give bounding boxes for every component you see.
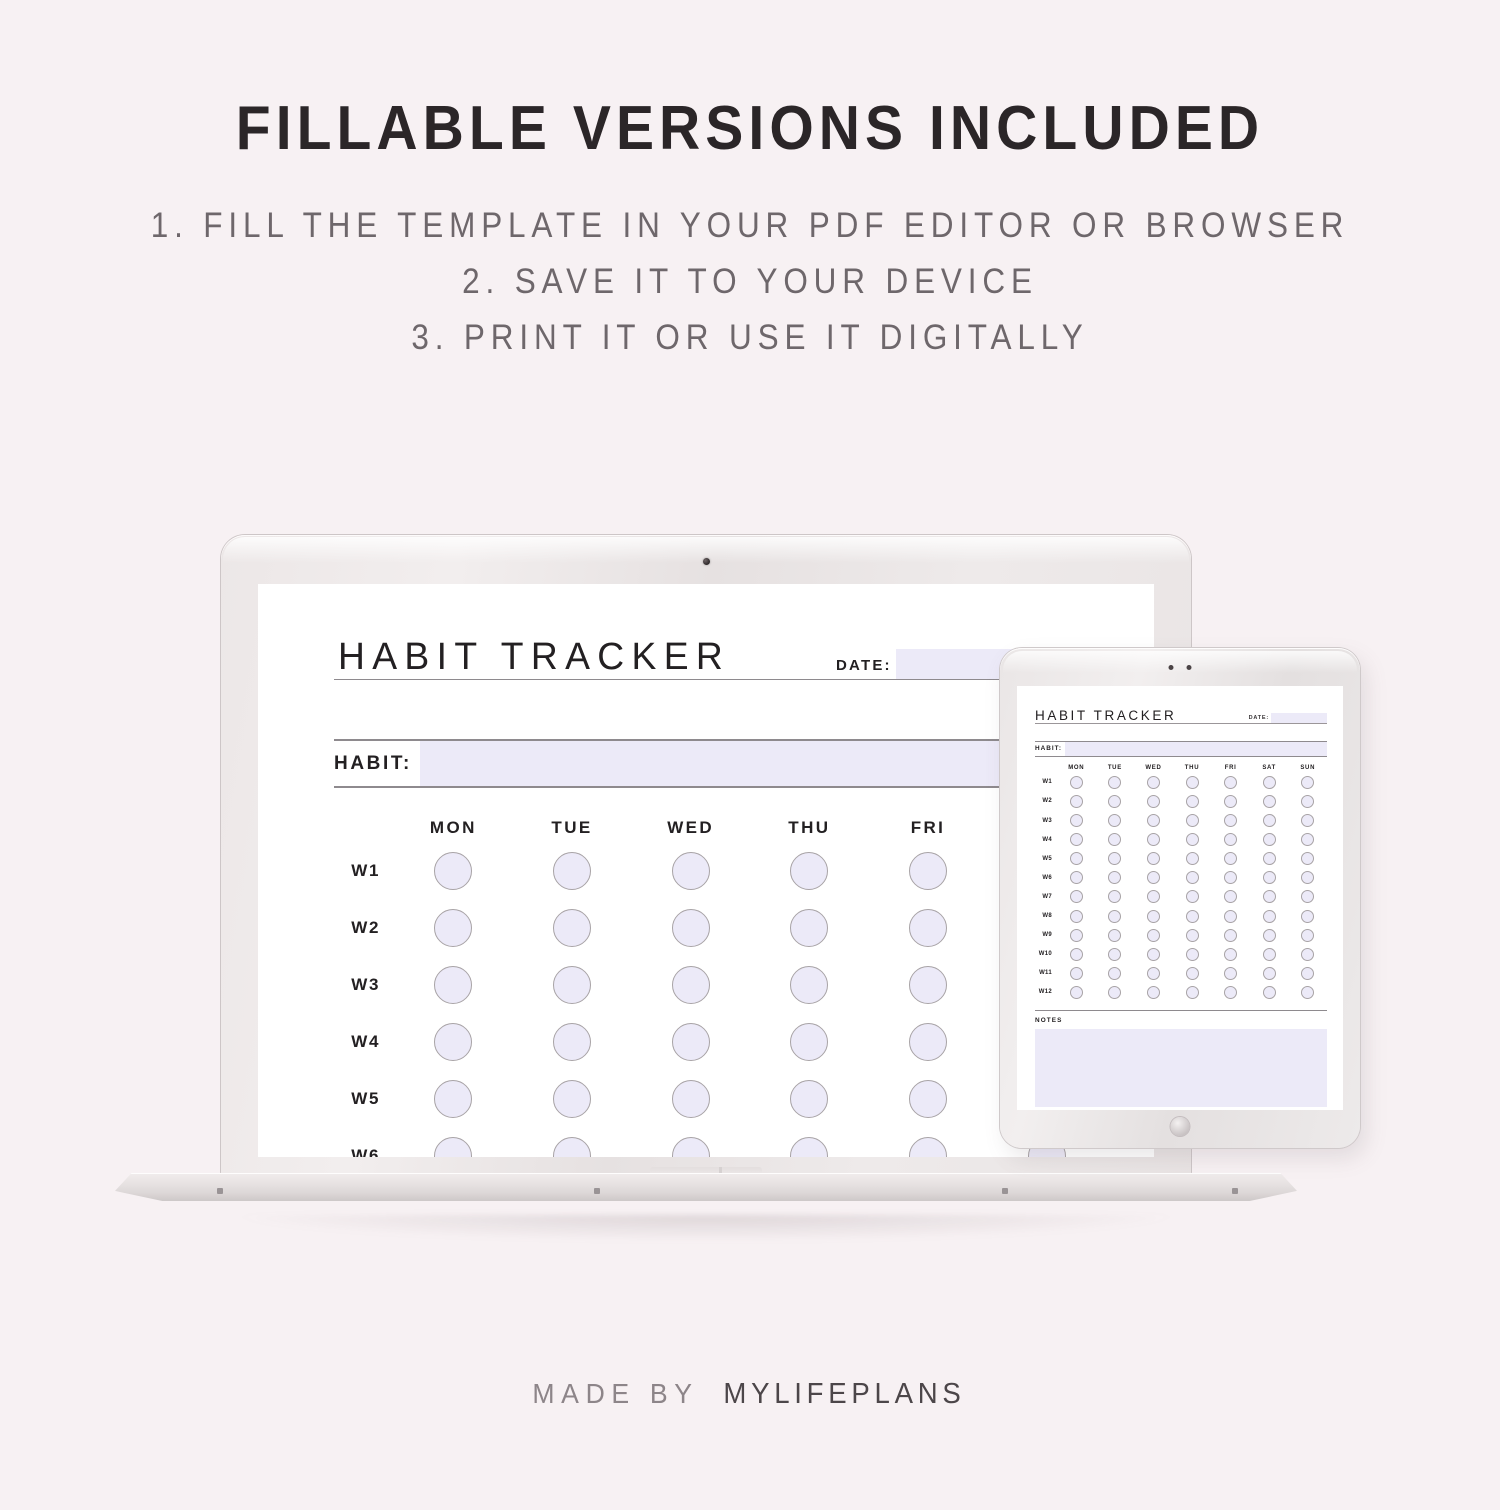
tablet-habit-checkbox-w7-thu[interactable]: [1186, 890, 1199, 903]
tablet-habit-checkbox-w6-wed[interactable]: [1147, 871, 1160, 884]
laptop-day-header-thu: THU: [750, 818, 869, 838]
tablet-cell-wrapper: [1211, 910, 1250, 923]
laptop-cell-wrapper: [631, 1023, 750, 1061]
tablet-habit-checkbox-w6-sun[interactable]: [1301, 871, 1314, 884]
tablet-cell-wrapper: [1211, 776, 1250, 789]
tablet-habit-checkbox-w5-wed[interactable]: [1147, 852, 1160, 865]
tablet-cell-wrapper: [1096, 795, 1135, 808]
tablet-cell-wrapper: [1250, 776, 1289, 789]
tablet-habit-checkbox-w10-fri[interactable]: [1224, 948, 1237, 961]
tablet-habit-checkbox-w5-thu[interactable]: [1186, 852, 1199, 865]
tablet-day-header-mon: MON: [1057, 765, 1096, 771]
tablet-cell-wrapper: [1288, 795, 1327, 808]
laptop-habit-checkbox-w2-tue[interactable]: [553, 909, 591, 947]
tablet-habit-checkbox-w1-mon[interactable]: [1070, 776, 1083, 789]
tablet-cell-wrapper: [1288, 986, 1327, 999]
tablet-habit-checkbox-w1-sat[interactable]: [1263, 776, 1276, 789]
laptop-day-header-wed: WED: [631, 818, 750, 838]
tablet-cell-wrapper: [1057, 776, 1096, 789]
laptop-week-label-w4: W4: [334, 1032, 394, 1052]
laptop-week-rows: W1W2W3W4W5W6: [334, 842, 1106, 1157]
tablet-habit-checkbox-w11-tue[interactable]: [1108, 967, 1121, 980]
tablet-week-row: W9: [1035, 926, 1327, 945]
tablet-habit-checkbox-w12-fri[interactable]: [1224, 986, 1237, 999]
tablet-cell-wrapper: [1250, 833, 1289, 846]
tablet-cell-wrapper: [1096, 910, 1135, 923]
tablet-habit-checkbox-w6-thu[interactable]: [1186, 871, 1199, 884]
tablet-cell-wrapper: [1211, 890, 1250, 903]
tablet-habit-checkbox-w10-thu[interactable]: [1186, 948, 1199, 961]
tablet-cell-wrapper: [1288, 852, 1327, 865]
tablet-habit-checkbox-w11-sun[interactable]: [1301, 967, 1314, 980]
tablet-habit-checkbox-w11-mon[interactable]: [1070, 967, 1083, 980]
tablet-cell-wrapper: [1173, 833, 1212, 846]
tablet-cell-wrapper: [1173, 776, 1212, 789]
tablet-cell-wrapper: [1096, 986, 1135, 999]
tablet-notes-rule: [1035, 1010, 1327, 1011]
tablet-habit-label: HABIT:: [1035, 742, 1065, 756]
tablet-habit-checkbox-w5-mon[interactable]: [1070, 852, 1083, 865]
laptop-habit-checkbox-w6-thu[interactable]: [790, 1137, 828, 1158]
tablet-habit-checkbox-w3-sat[interactable]: [1263, 814, 1276, 827]
tablet-week-rows: W1W2W3W4W5W6W7W8W9W10W11W12: [1035, 773, 1327, 1002]
tablet-cell-wrapper: [1134, 967, 1173, 980]
tablet-habit-checkbox-w12-tue[interactable]: [1108, 986, 1121, 999]
tablet-habit-grid: MONTUEWEDTHUFRISATSUN W1W2W3W4W5W6W7W8W9…: [1035, 757, 1327, 1002]
tablet-habit-checkbox-w5-tue[interactable]: [1108, 852, 1121, 865]
tablet-day-header-tue: TUE: [1096, 765, 1135, 771]
laptop-cell-wrapper: [513, 909, 632, 947]
tablet-habit-checkbox-w8-sun[interactable]: [1301, 910, 1314, 923]
tablet-week-row: W7: [1035, 887, 1327, 906]
tablet-cell-wrapper: [1211, 833, 1250, 846]
laptop-week-label-w3: W3: [334, 975, 394, 995]
tablet-habit-checkbox-w12-thu[interactable]: [1186, 986, 1199, 999]
tablet-habit-checkbox-w8-tue[interactable]: [1108, 910, 1121, 923]
tablet-cell-wrapper: [1288, 833, 1327, 846]
tablet-habit-checkbox-w8-thu[interactable]: [1186, 910, 1199, 923]
laptop-cell-wrapper: [869, 1023, 988, 1061]
laptop-date-label: DATE:: [836, 657, 892, 679]
tablet-day-header-wed: WED: [1134, 765, 1173, 771]
tablet-week-row: W10: [1035, 945, 1327, 964]
tablet-habit-checkbox-w12-wed[interactable]: [1147, 986, 1160, 999]
footer-made-by-label: MADE BY: [532, 1378, 698, 1410]
laptop-habit-label: HABIT:: [334, 741, 420, 786]
laptop-habit-grid: MONTUEWEDTHUFRISAT W1W2W3W4W5W6: [334, 788, 1106, 1157]
tablet-cell-wrapper: [1288, 910, 1327, 923]
tablet-habit-checkbox-w3-thu[interactable]: [1186, 814, 1199, 827]
laptop-deck: [115, 1173, 1297, 1201]
tablet-cell-wrapper: [1211, 967, 1250, 980]
laptop-habit-checkbox-w1-fri[interactable]: [909, 852, 947, 890]
tablet-habit-checkbox-w4-fri[interactable]: [1224, 833, 1237, 846]
tablet-week-label-w5: W5: [1035, 856, 1057, 862]
tablet-habit-checkbox-w11-thu[interactable]: [1186, 967, 1199, 980]
tablet-cell-wrapper: [1211, 929, 1250, 942]
tablet-grid-corner-spacer: [1035, 765, 1057, 771]
laptop-day-header-row: MONTUEWEDTHUFRISAT: [334, 788, 1106, 842]
tablet-habit-checkbox-w10-wed[interactable]: [1147, 948, 1160, 961]
laptop-drop-shadow: [241, 1215, 1171, 1241]
laptop-cell-wrapper: [631, 1137, 750, 1158]
tablet-cell-wrapper: [1288, 967, 1327, 980]
laptop-habit-checkbox-w4-tue[interactable]: [553, 1023, 591, 1061]
laptop-cell-wrapper: [869, 909, 988, 947]
tablet-cell-wrapper: [1134, 852, 1173, 865]
tablet-cell-wrapper: [1250, 929, 1289, 942]
tablet-habit-checkbox-w3-sun[interactable]: [1301, 814, 1314, 827]
tablet-habit-checkbox-w11-wed[interactable]: [1147, 967, 1160, 980]
home-button-icon[interactable]: [1171, 1117, 1190, 1136]
laptop-cell-wrapper: [513, 966, 632, 1004]
laptop-day-header-mon: MON: [394, 818, 513, 838]
laptop-habit-checkbox-w6-wed[interactable]: [672, 1137, 710, 1158]
laptop-week-label-w2: W2: [334, 918, 394, 938]
camera-dot-icon: [1169, 665, 1192, 670]
tablet-habit-checkbox-w7-wed[interactable]: [1147, 890, 1160, 903]
tablet-week-label-w12: W12: [1035, 989, 1057, 995]
tablet-week-row: W12: [1035, 983, 1327, 1002]
tablet-habit-checkbox-w3-wed[interactable]: [1147, 814, 1160, 827]
tablet-cell-wrapper: [1057, 910, 1096, 923]
tablet-week-label-w7: W7: [1035, 894, 1057, 900]
tablet-habit-checkbox-w10-mon[interactable]: [1070, 948, 1083, 961]
tablet-date-group: DATE:: [1249, 713, 1327, 723]
tablet-week-row: W11: [1035, 964, 1327, 983]
laptop-habit-row: HABIT:: [334, 741, 1106, 786]
tablet-sheet-header: HABIT TRACKER DATE:: [1017, 708, 1343, 723]
tablet-cell-wrapper: [1134, 929, 1173, 942]
tablet-habit-checkbox-w9-wed[interactable]: [1147, 929, 1160, 942]
tablet-notes-label: NOTES: [1035, 1017, 1327, 1024]
tablet-cell-wrapper: [1250, 890, 1289, 903]
tablet-habit-checkbox-w9-tue[interactable]: [1108, 929, 1121, 942]
tablet-habit-checkbox-w4-wed[interactable]: [1147, 833, 1160, 846]
tablet-cell-wrapper: [1096, 833, 1135, 846]
laptop-cell-wrapper: [631, 1080, 750, 1118]
laptop-day-header-tue: TUE: [513, 818, 632, 838]
tablet-week-label-w4: W4: [1035, 837, 1057, 843]
tablet-habit-checkbox-w2-wed[interactable]: [1147, 795, 1160, 808]
tablet-cell-wrapper: [1134, 833, 1173, 846]
tablet-habit-checkbox-w9-fri[interactable]: [1224, 929, 1237, 942]
laptop-habit-checkbox-w5-wed[interactable]: [672, 1080, 710, 1118]
device-mockup-stage: HABIT TRACKER DATE: HABIT:: [0, 0, 1500, 1510]
tablet-habit-checkbox-w2-tue[interactable]: [1108, 795, 1121, 808]
tablet-cell-wrapper: [1057, 852, 1096, 865]
tablet-week-row: W4: [1035, 830, 1327, 849]
tablet-habit-checkbox-w9-thu[interactable]: [1186, 929, 1199, 942]
laptop-habit-checkbox-w1-tue[interactable]: [553, 852, 591, 890]
tablet-cell-wrapper: [1057, 929, 1096, 942]
tablet-cell-wrapper: [1134, 795, 1173, 808]
tablet-cell-wrapper: [1288, 890, 1327, 903]
laptop-date-underline: [334, 679, 1106, 680]
laptop-sheet-title: HABIT TRACKER: [338, 636, 730, 679]
tablet-habit-checkbox-w2-fri[interactable]: [1224, 795, 1237, 808]
tablet-cell-wrapper: [1134, 776, 1173, 789]
laptop-week-row: W6: [334, 1127, 1106, 1157]
tablet-habit-checkbox-w3-mon[interactable]: [1070, 814, 1083, 827]
tablet-cell-wrapper: [1134, 948, 1173, 961]
tablet-day-header-fri: FRI: [1211, 765, 1250, 771]
tablet-sheet-title: HABIT TRACKER: [1035, 708, 1176, 723]
tablet-cell-wrapper: [1096, 814, 1135, 827]
tablet-cell-wrapper: [1057, 890, 1096, 903]
tablet-habit-checkbox-w5-fri[interactable]: [1224, 852, 1237, 865]
tablet-habit-checkbox-w8-fri[interactable]: [1224, 910, 1237, 923]
laptop-cell-wrapper: [631, 909, 750, 947]
camera-dot-icon-right: [1187, 665, 1192, 670]
tablet-cell-wrapper: [1096, 852, 1135, 865]
tablet-habit-checkbox-w2-mon[interactable]: [1070, 795, 1083, 808]
tablet-cell-wrapper: [1211, 795, 1250, 808]
tablet-cell-wrapper: [1211, 871, 1250, 884]
tablet-day-header-sat: SAT: [1250, 765, 1289, 771]
tablet-habit-checkbox-w4-mon[interactable]: [1070, 833, 1083, 846]
laptop-habit-checkbox-w6-tue[interactable]: [553, 1137, 591, 1158]
tablet-cell-wrapper: [1288, 871, 1327, 884]
tablet-cell-wrapper: [1288, 776, 1327, 789]
laptop-habit-checkbox-w2-fri[interactable]: [909, 909, 947, 947]
camera-dot-icon: [703, 558, 710, 565]
laptop-cell-wrapper: [869, 966, 988, 1004]
laptop-habit-checkbox-w2-thu[interactable]: [790, 909, 828, 947]
tablet-habit-checkbox-w9-mon[interactable]: [1070, 929, 1083, 942]
tablet-habit-row: HABIT:: [1035, 742, 1327, 756]
tablet-week-row: W5: [1035, 849, 1327, 868]
laptop-habit-checkbox-w3-mon[interactable]: [434, 966, 472, 1004]
laptop-habit-checkbox-w1-mon[interactable]: [434, 852, 472, 890]
laptop-habit-checkbox-w2-mon[interactable]: [434, 909, 472, 947]
laptop-habit-checkbox-w2-wed[interactable]: [672, 909, 710, 947]
tablet-cell-wrapper: [1057, 986, 1096, 999]
laptop-habit-checkbox-w4-wed[interactable]: [672, 1023, 710, 1061]
laptop-foot: [1232, 1188, 1238, 1194]
laptop-cell-wrapper: [394, 852, 513, 890]
tablet-habit-checkbox-w11-sat[interactable]: [1263, 967, 1276, 980]
laptop-week-row: W4: [334, 1013, 1106, 1070]
tablet-week-row: W1: [1035, 773, 1327, 792]
tablet-week-row: W2: [1035, 792, 1327, 811]
tablet-cell-wrapper: [1096, 929, 1135, 942]
laptop-habit-checkbox-w6-fri[interactable]: [909, 1137, 947, 1158]
laptop-cell-wrapper: [394, 1023, 513, 1061]
laptop-habit-checkbox-w5-mon[interactable]: [434, 1080, 472, 1118]
tablet-cell-wrapper: [1134, 871, 1173, 884]
tablet-cell-wrapper: [1288, 948, 1327, 961]
laptop-week-label-w1: W1: [334, 861, 394, 881]
tablet-habit-checkbox-w10-tue[interactable]: [1108, 948, 1121, 961]
laptop-habit-checkbox-w6-mon[interactable]: [434, 1137, 472, 1158]
laptop-habit-checkbox-w3-tue[interactable]: [553, 966, 591, 1004]
tablet-habit-checkbox-w8-mon[interactable]: [1070, 910, 1083, 923]
laptop-cell-wrapper: [750, 1137, 869, 1158]
tablet-habit-checkbox-w6-tue[interactable]: [1108, 871, 1121, 884]
tablet-habit-checkbox-w9-sat[interactable]: [1263, 929, 1276, 942]
tablet-cell-wrapper: [1096, 890, 1135, 903]
tablet-cell-wrapper: [1134, 986, 1173, 999]
tablet-cell-wrapper: [1173, 948, 1212, 961]
laptop-habit-checkbox-w1-thu[interactable]: [790, 852, 828, 890]
laptop-habit-checkbox-w3-fri[interactable]: [909, 966, 947, 1004]
tablet-habit-checkbox-w1-fri[interactable]: [1224, 776, 1237, 789]
tablet-date-label: DATE:: [1249, 715, 1269, 723]
tablet-cell-wrapper: [1288, 814, 1327, 827]
laptop-habit-checkbox-w3-wed[interactable]: [672, 966, 710, 1004]
laptop-habit-checkbox-w5-fri[interactable]: [909, 1080, 947, 1118]
laptop-day-header-fri: FRI: [869, 818, 988, 838]
tablet-habit-checkbox-w2-sun[interactable]: [1301, 795, 1314, 808]
tablet-cell-wrapper: [1173, 814, 1212, 827]
tablet-date-input[interactable]: [1271, 713, 1327, 723]
laptop-cell-wrapper: [513, 1023, 632, 1061]
laptop-cell-wrapper: [750, 909, 869, 947]
laptop-week-row: W2: [334, 899, 1106, 956]
tablet-habit-checkbox-w8-sat[interactable]: [1263, 910, 1276, 923]
laptop-foot: [217, 1188, 223, 1194]
tablet-cell-wrapper: [1250, 852, 1289, 865]
tablet-week-label-w6: W6: [1035, 875, 1057, 881]
tablet-habit-input[interactable]: [1065, 742, 1327, 756]
tablet-date-underline: [1035, 723, 1327, 724]
tablet-cell-wrapper: [1057, 871, 1096, 884]
tablet-screen: HABIT TRACKER DATE: HABIT:: [1017, 686, 1343, 1110]
tablet-habit-checkbox-w4-sat[interactable]: [1263, 833, 1276, 846]
laptop-week-label-w5: W5: [334, 1089, 394, 1109]
tablet-cell-wrapper: [1096, 776, 1135, 789]
tablet-habit-checkbox-w1-thu[interactable]: [1186, 776, 1199, 789]
tablet-day-header-sun: SUN: [1288, 765, 1327, 771]
laptop-cell-wrapper: [750, 1080, 869, 1118]
tablet-habit-checkbox-w10-sun[interactable]: [1301, 948, 1314, 961]
tablet-cell-wrapper: [1057, 833, 1096, 846]
laptop-habit-checkbox-w4-mon[interactable]: [434, 1023, 472, 1061]
tablet-week-row: W3: [1035, 811, 1327, 830]
laptop-cell-wrapper: [394, 1137, 513, 1158]
tablet-habit-checkbox-w9-sun[interactable]: [1301, 929, 1314, 942]
laptop-habit-checkbox-w3-thu[interactable]: [790, 966, 828, 1004]
tablet-habit-checkbox-w7-sat[interactable]: [1263, 890, 1276, 903]
laptop-foot: [1002, 1188, 1008, 1194]
tablet-habit-checkbox-w1-wed[interactable]: [1147, 776, 1160, 789]
laptop-cell-wrapper: [513, 852, 632, 890]
laptop-base: [115, 1173, 1297, 1217]
tablet-cell-wrapper: [1250, 986, 1289, 999]
footer-credit: MADE BY MYLIFEPLANS: [0, 1378, 1500, 1411]
tablet-week-label-w9: W9: [1035, 932, 1057, 938]
tablet-habit-checkbox-w1-tue[interactable]: [1108, 776, 1121, 789]
tablet-cell-wrapper: [1250, 910, 1289, 923]
laptop-week-label-w6: W6: [334, 1146, 394, 1158]
laptop-cell-wrapper: [394, 966, 513, 1004]
tablet-habit-checkbox-w12-sat[interactable]: [1263, 986, 1276, 999]
laptop-cell-wrapper: [869, 1137, 988, 1158]
tablet-habit-checkbox-w6-sat[interactable]: [1263, 871, 1276, 884]
laptop-cell-wrapper: [394, 909, 513, 947]
tablet-habit-group: HABIT:: [1017, 741, 1343, 757]
laptop-habit-checkbox-w4-fri[interactable]: [909, 1023, 947, 1061]
tablet-habit-checkbox-w10-sat[interactable]: [1263, 948, 1276, 961]
tablet-cell-wrapper: [1173, 871, 1212, 884]
laptop-habit-checkbox-w5-thu[interactable]: [790, 1080, 828, 1118]
laptop-cell-wrapper: [394, 1080, 513, 1118]
tablet-cell-wrapper: [1250, 871, 1289, 884]
laptop-cell-wrapper: [869, 1080, 988, 1118]
laptop-week-row: W3: [334, 956, 1106, 1013]
tablet-cell-wrapper: [1250, 814, 1289, 827]
tablet-week-row: W6: [1035, 868, 1327, 887]
tablet-cell-wrapper: [1173, 890, 1212, 903]
tablet-cell-wrapper: [1173, 795, 1212, 808]
tablet-habit-checkbox-w4-thu[interactable]: [1186, 833, 1199, 846]
tablet-cell-wrapper: [1211, 814, 1250, 827]
tablet-cell-wrapper: [1250, 948, 1289, 961]
tablet-cell-wrapper: [1173, 967, 1212, 980]
laptop-cell-wrapper: [513, 1080, 632, 1118]
laptop-habit-checkbox-w5-tue[interactable]: [553, 1080, 591, 1118]
camera-dot-icon-left: [1169, 665, 1174, 670]
tablet-habit-checkbox-w12-sun[interactable]: [1301, 986, 1314, 999]
tablet-week-label-w2: W2: [1035, 798, 1057, 804]
tablet-habit-checkbox-w4-sun[interactable]: [1301, 833, 1314, 846]
tablet-cell-wrapper: [1057, 967, 1096, 980]
laptop-cell-wrapper: [631, 852, 750, 890]
tablet-habit-checkbox-w5-sun[interactable]: [1301, 852, 1314, 865]
tablet-habit-checkbox-w2-thu[interactable]: [1186, 795, 1199, 808]
tablet-cell-wrapper: [1211, 986, 1250, 999]
laptop-cell-wrapper: [869, 852, 988, 890]
tablet-habit-checkbox-w2-sat[interactable]: [1263, 795, 1276, 808]
tablet-cell-wrapper: [1250, 967, 1289, 980]
tablet-habit-checkbox-w4-tue[interactable]: [1108, 833, 1121, 846]
tablet-habit-checkbox-w8-wed[interactable]: [1147, 910, 1160, 923]
tablet-cell-wrapper: [1096, 948, 1135, 961]
laptop-habit-checkbox-w1-wed[interactable]: [672, 852, 710, 890]
laptop-cell-wrapper: [631, 966, 750, 1004]
tablet-cell-wrapper: [1173, 986, 1212, 999]
tablet-cell-wrapper: [1096, 967, 1135, 980]
tablet-week-label-w11: W11: [1035, 970, 1057, 976]
tablet-habit-checkbox-w6-fri[interactable]: [1224, 871, 1237, 884]
laptop-cell-wrapper: [750, 966, 869, 1004]
tablet-habit-checkbox-w1-sun[interactable]: [1301, 776, 1314, 789]
tablet-habit-checkbox-w7-tue[interactable]: [1108, 890, 1121, 903]
tablet-mockup: HABIT TRACKER DATE: HABIT:: [1000, 648, 1360, 1148]
laptop-week-row: W1: [334, 842, 1106, 899]
laptop-grid-corner-spacer: [334, 818, 394, 838]
tablet-habit-checkbox-w7-sun[interactable]: [1301, 890, 1314, 903]
tablet-cell-wrapper: [1211, 852, 1250, 865]
tablet-habit-checkbox-w3-fri[interactable]: [1224, 814, 1237, 827]
laptop-cell-wrapper: [513, 1137, 632, 1158]
tablet-cell-wrapper: [1057, 795, 1096, 808]
tablet-cell-wrapper: [1134, 910, 1173, 923]
tablet-habit-checkbox-w7-fri[interactable]: [1224, 890, 1237, 903]
tablet-week-label-w8: W8: [1035, 913, 1057, 919]
tablet-cell-wrapper: [1173, 929, 1212, 942]
tablet-habit-checkbox-w6-mon[interactable]: [1070, 871, 1083, 884]
tablet-habit-checkbox-w7-mon[interactable]: [1070, 890, 1083, 903]
tablet-cell-wrapper: [1096, 871, 1135, 884]
tablet-habit-checkbox-w5-sat[interactable]: [1263, 852, 1276, 865]
tablet-habit-checkbox-w12-mon[interactable]: [1070, 986, 1083, 999]
tablet-habit-checkbox-w3-tue[interactable]: [1108, 814, 1121, 827]
tablet-notes-input[interactable]: [1035, 1029, 1327, 1107]
laptop-habit-checkbox-w4-thu[interactable]: [790, 1023, 828, 1061]
tablet-habit-checkbox-w11-fri[interactable]: [1224, 967, 1237, 980]
